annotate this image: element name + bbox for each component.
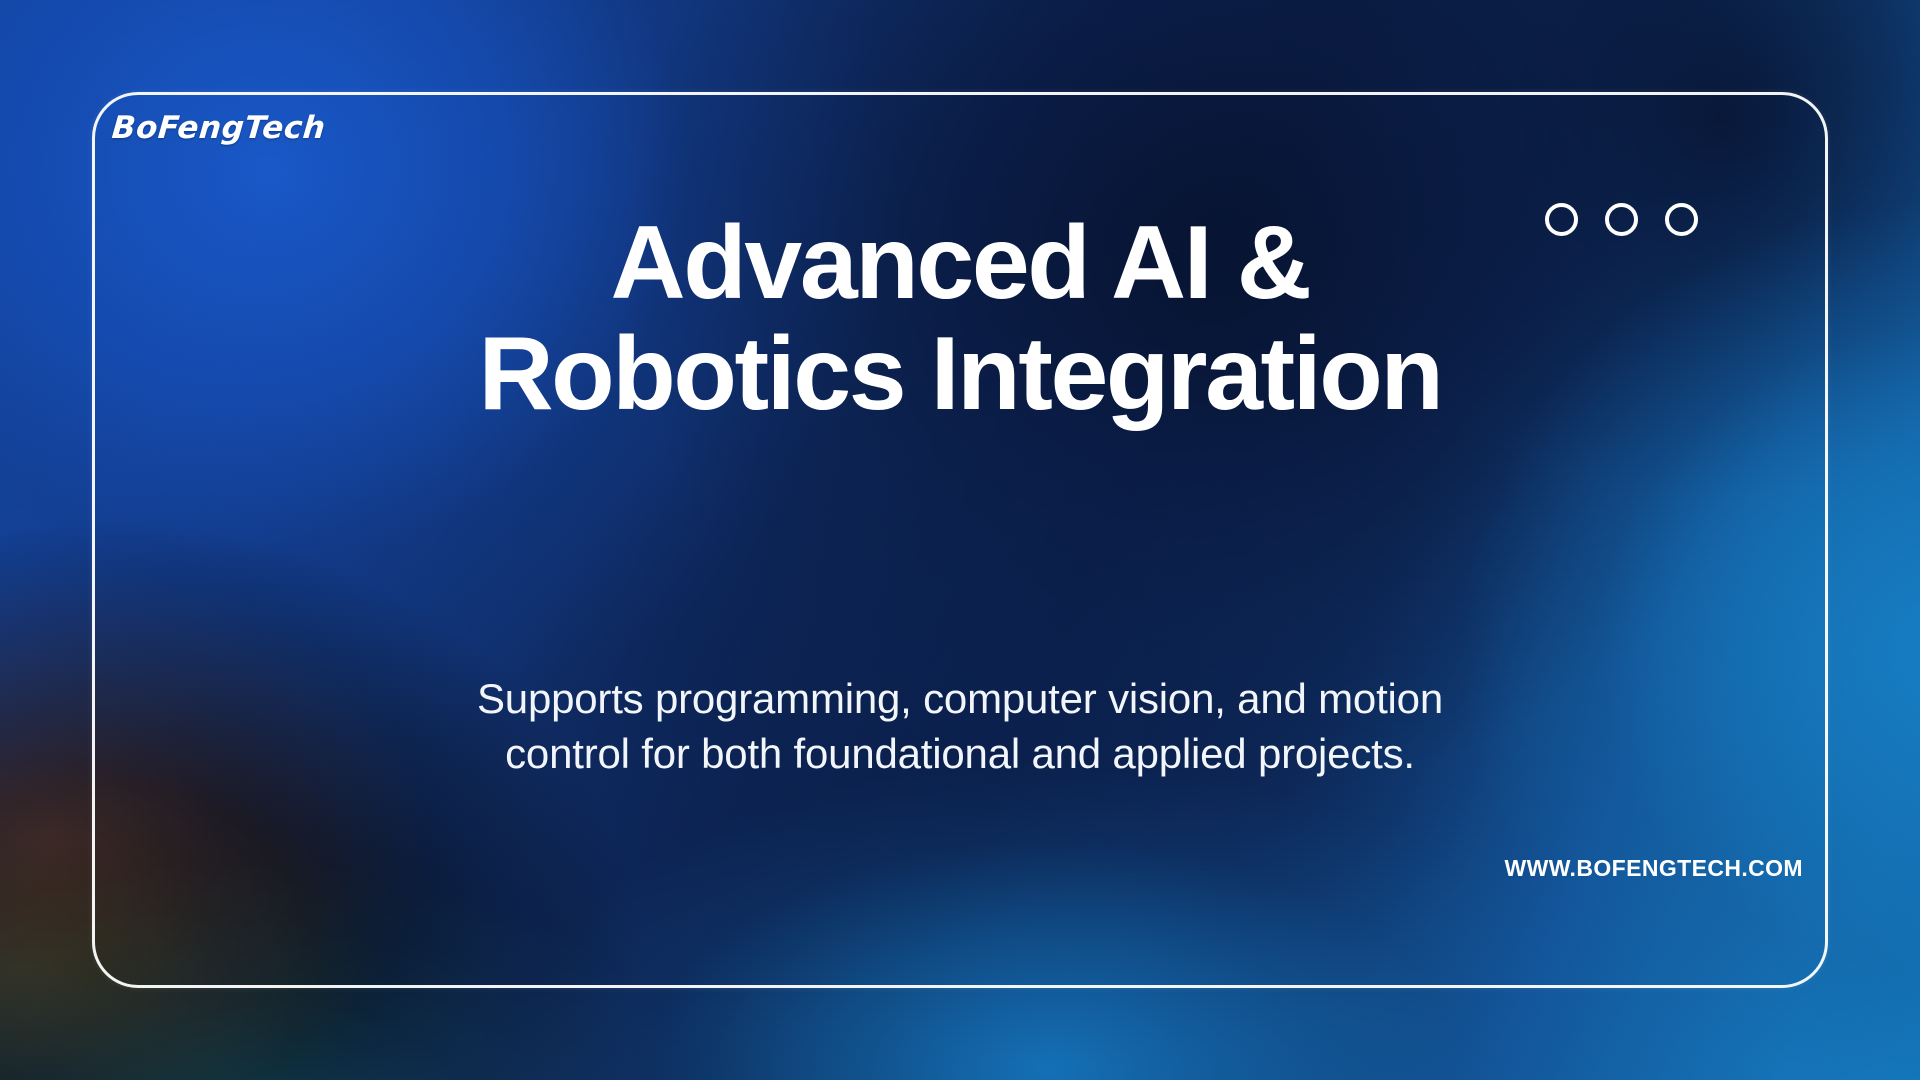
page-title-line-2: Robotics Integration <box>92 319 1828 430</box>
page-subtitle: Supports programming, computer vision, a… <box>180 672 1740 781</box>
page-subtitle-line-1: Supports programming, computer vision, a… <box>180 672 1740 727</box>
page-title-line-1: Advanced AI & <box>92 208 1828 319</box>
website-url[interactable]: WWW.BOFENGTECH.COM <box>1505 855 1804 882</box>
presentation-slide: BoFengTech Advanced AI & Robotics Integr… <box>0 0 1920 1080</box>
brand-logo: BoFengTech <box>110 110 327 146</box>
page-title: Advanced AI & Robotics Integration <box>92 208 1828 431</box>
page-subtitle-line-2: control for both foundational and applie… <box>180 727 1740 782</box>
